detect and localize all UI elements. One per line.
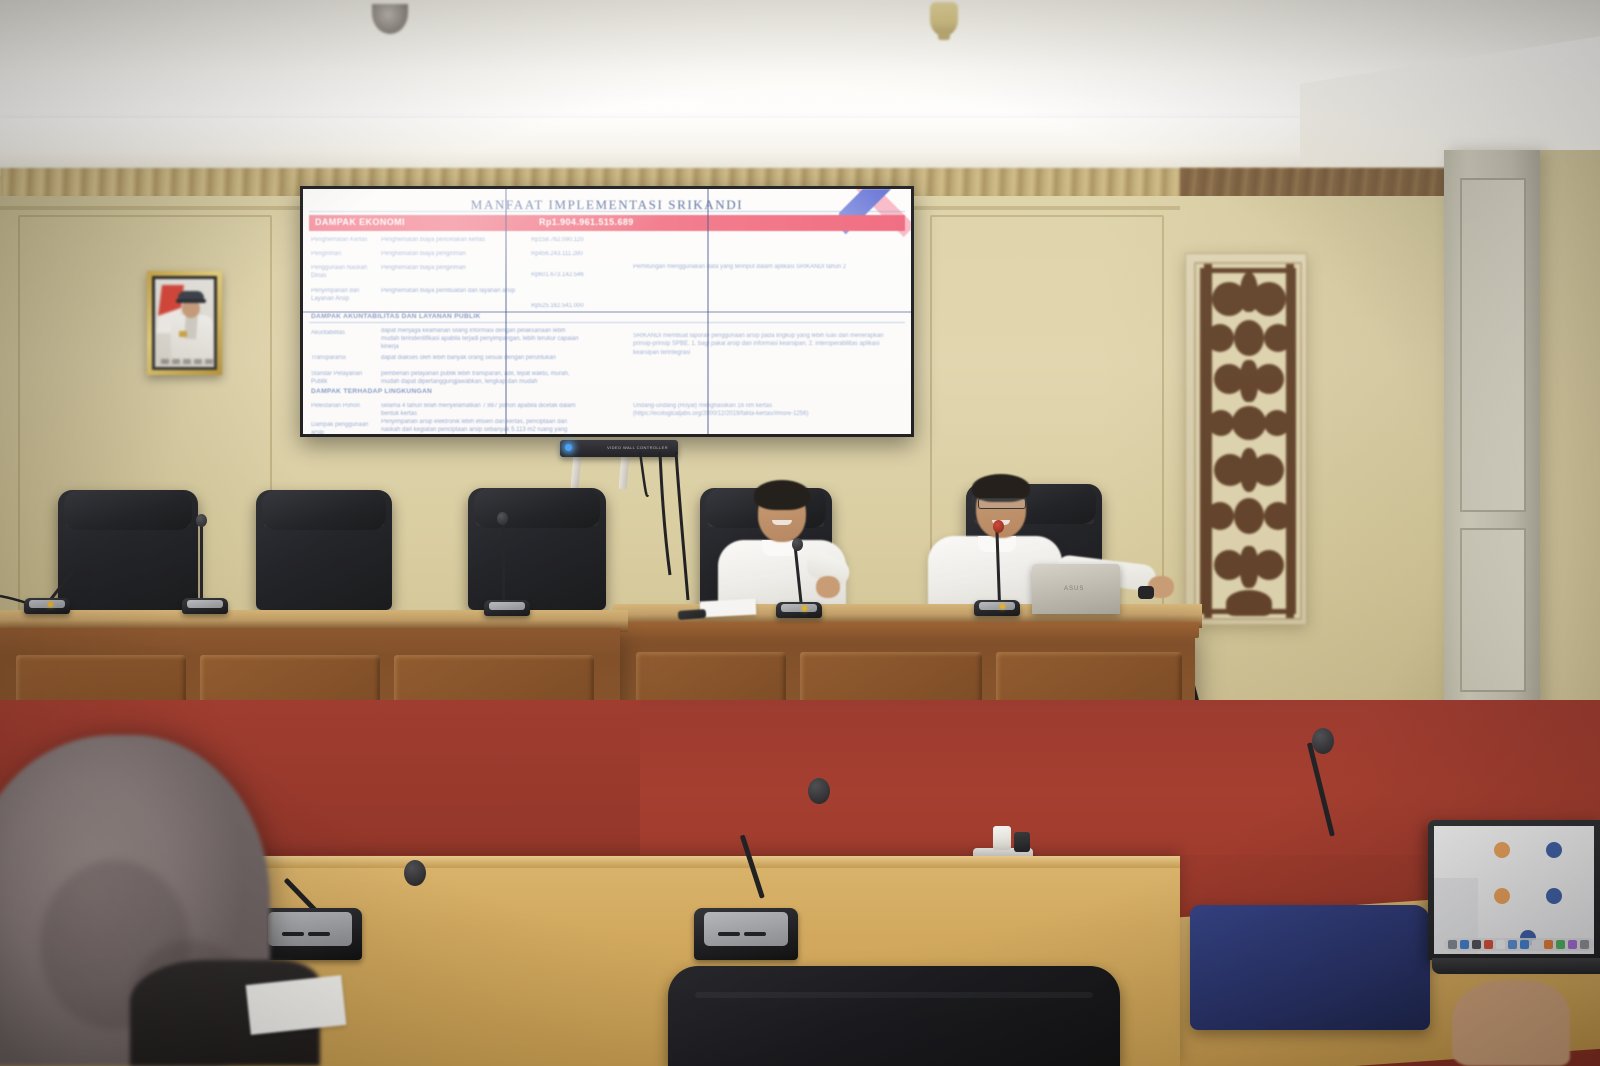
video-wall-display[interactable]: MANFAAT IMPLEMENTASI SRIKANDI DAMPAK EKO… <box>300 186 914 437</box>
macbook-keyboard[interactable] <box>1432 958 1600 974</box>
slide-row-label: Akuntabilitas <box>311 329 373 337</box>
slide-row-label: Penyimpanan dan Layanan Arsip <box>311 287 373 303</box>
slide-row-desc: Penghematan biaya pembuatan dan layanan … <box>381 287 521 295</box>
mic-gooseneck <box>502 520 505 602</box>
slide-row-value: Rp456.243.111.280 <box>531 250 623 258</box>
slide-red-banner: DAMPAK EKONOMI Rp1.904.961.515.689 <box>309 215 905 231</box>
slide-row-desc: Penyimpanan arsip elektronik lebih efisi… <box>381 418 581 434</box>
wall-pilaster <box>1444 150 1540 710</box>
dock-icon[interactable] <box>1580 940 1589 949</box>
laptop-sleeve <box>1190 905 1430 1030</box>
slide-row-label: Standar Pelayanan Publik <box>311 370 373 386</box>
power-adapter <box>1014 832 1030 852</box>
slide-row-note: Perhitungan menggunakan data yang terinp… <box>633 263 883 271</box>
mic-gooseneck <box>200 522 203 602</box>
dock-icon[interactable] <box>1484 940 1493 949</box>
slide-section-heading: DAMPAK AKUNTABILITAS DAN LAYANAN PUBLIK <box>311 313 481 320</box>
folder-icon[interactable] <box>1494 842 1510 858</box>
mic-capsule-icon <box>808 778 830 804</box>
slide-row-label: Dampak penggunaan arsip <box>311 421 373 434</box>
slide-row-value: Rp601.673.142.546 <box>531 271 623 279</box>
wristwatch <box>1138 586 1154 599</box>
dock-icon[interactable] <box>1460 940 1469 949</box>
dock-icon[interactable] <box>1472 940 1481 949</box>
slide-row-desc: Penghematan biaya pengiriman <box>381 250 521 258</box>
eyeglasses-icon <box>978 498 1026 509</box>
slide-row-label: Pelestarian Pohon <box>311 402 377 410</box>
papers <box>700 599 757 618</box>
framed-portrait <box>147 271 222 375</box>
dock-icon[interactable] <box>1448 940 1457 949</box>
dock-icon[interactable] <box>1496 940 1505 949</box>
foreground-chair[interactable] <box>668 966 1120 1066</box>
slide-banner-value: Rp1.904.961.515.689 <box>539 217 634 227</box>
hand-on-trackpad <box>1452 980 1570 1066</box>
slide-banner-label: DAMPAK EKONOMI <box>315 217 405 227</box>
chair-headrest <box>64 490 192 530</box>
slide-row-label: Pengiriman <box>311 250 377 258</box>
slide-row-desc: dapat diakses oleh lebih banyak orang se… <box>381 354 581 362</box>
mic-capsule-icon <box>497 512 508 525</box>
video-wall-controller[interactable]: VIDEO WALL CONTROLLER <box>560 440 678 457</box>
folder-icon[interactable] <box>1494 888 1510 904</box>
dock-icon[interactable] <box>1520 940 1529 949</box>
folder-icon[interactable] <box>1546 888 1562 904</box>
slide-row-label: Penggunaan Naskah Dinas <box>311 264 371 280</box>
papers <box>246 975 347 1035</box>
slide-row-note: Undang-undang (Royal) menghasilkan 16 ri… <box>633 402 883 419</box>
slide-row-desc: Penghematan biaya pengiriman <box>381 264 521 272</box>
folder-icon[interactable] <box>1546 842 1562 858</box>
podium-desk-cap <box>616 622 1199 638</box>
dock-icon[interactable] <box>1508 940 1517 949</box>
mic-capsule-icon <box>993 520 1004 533</box>
carved-wall-panel <box>1185 253 1307 625</box>
power-led-icon <box>565 444 572 451</box>
macbook[interactable] <box>1428 820 1600 988</box>
chair-headrest <box>262 490 386 530</box>
mic-capsule-icon <box>792 538 803 551</box>
slide-row-desc: selama 4 tahun telah menyelamatkan 7.987… <box>381 402 581 418</box>
macos-dock[interactable] <box>1444 938 1594 951</box>
slide-row-value: Rp525.162.541.000 <box>531 302 623 310</box>
power-adapter <box>993 826 1011 850</box>
chair-headrest <box>474 488 600 528</box>
slide-row-label: Penghematan Kertas <box>311 236 377 244</box>
smartphone[interactable] <box>678 609 707 620</box>
laptop-asus[interactable]: ASUS <box>1032 564 1120 614</box>
laptop-brand-label: ASUS <box>1064 586 1084 592</box>
slide-row-value: Rp158.762.090.120 <box>531 236 623 244</box>
conference-room-photo: MANFAAT IMPLEMENTASI SRIKANDI DAMPAK EKO… <box>0 0 1600 1066</box>
slide-row-desc: pemberian pelayanan publik lebih transpa… <box>381 370 581 386</box>
mic-capsule-icon <box>1312 728 1334 754</box>
controller-label: VIDEO WALL CONTROLLER <box>607 445 668 450</box>
dock-icon[interactable] <box>1568 940 1577 949</box>
dock-icon[interactable] <box>1556 940 1565 949</box>
macbook-screen[interactable] <box>1434 826 1594 954</box>
slide-row-desc: dapat menjaga keamanan silang informasi … <box>381 327 581 351</box>
mic-capsule-icon <box>404 860 426 886</box>
slide-row-note: SRIKANDI membuat laporan penggunaan arsi… <box>633 332 891 357</box>
slide-row-label: Transparansi <box>311 354 373 362</box>
slide-section-heading: DAMPAK TERHADAP LINGKUNGAN <box>311 388 432 395</box>
mic-capsule-icon <box>196 514 207 527</box>
dock-icon[interactable] <box>1532 940 1541 949</box>
slide-row-desc: Penghematan biaya pencetakan kertas <box>381 236 521 244</box>
dock-icon[interactable] <box>1544 940 1553 949</box>
ceiling-lamp-icon <box>930 2 958 36</box>
